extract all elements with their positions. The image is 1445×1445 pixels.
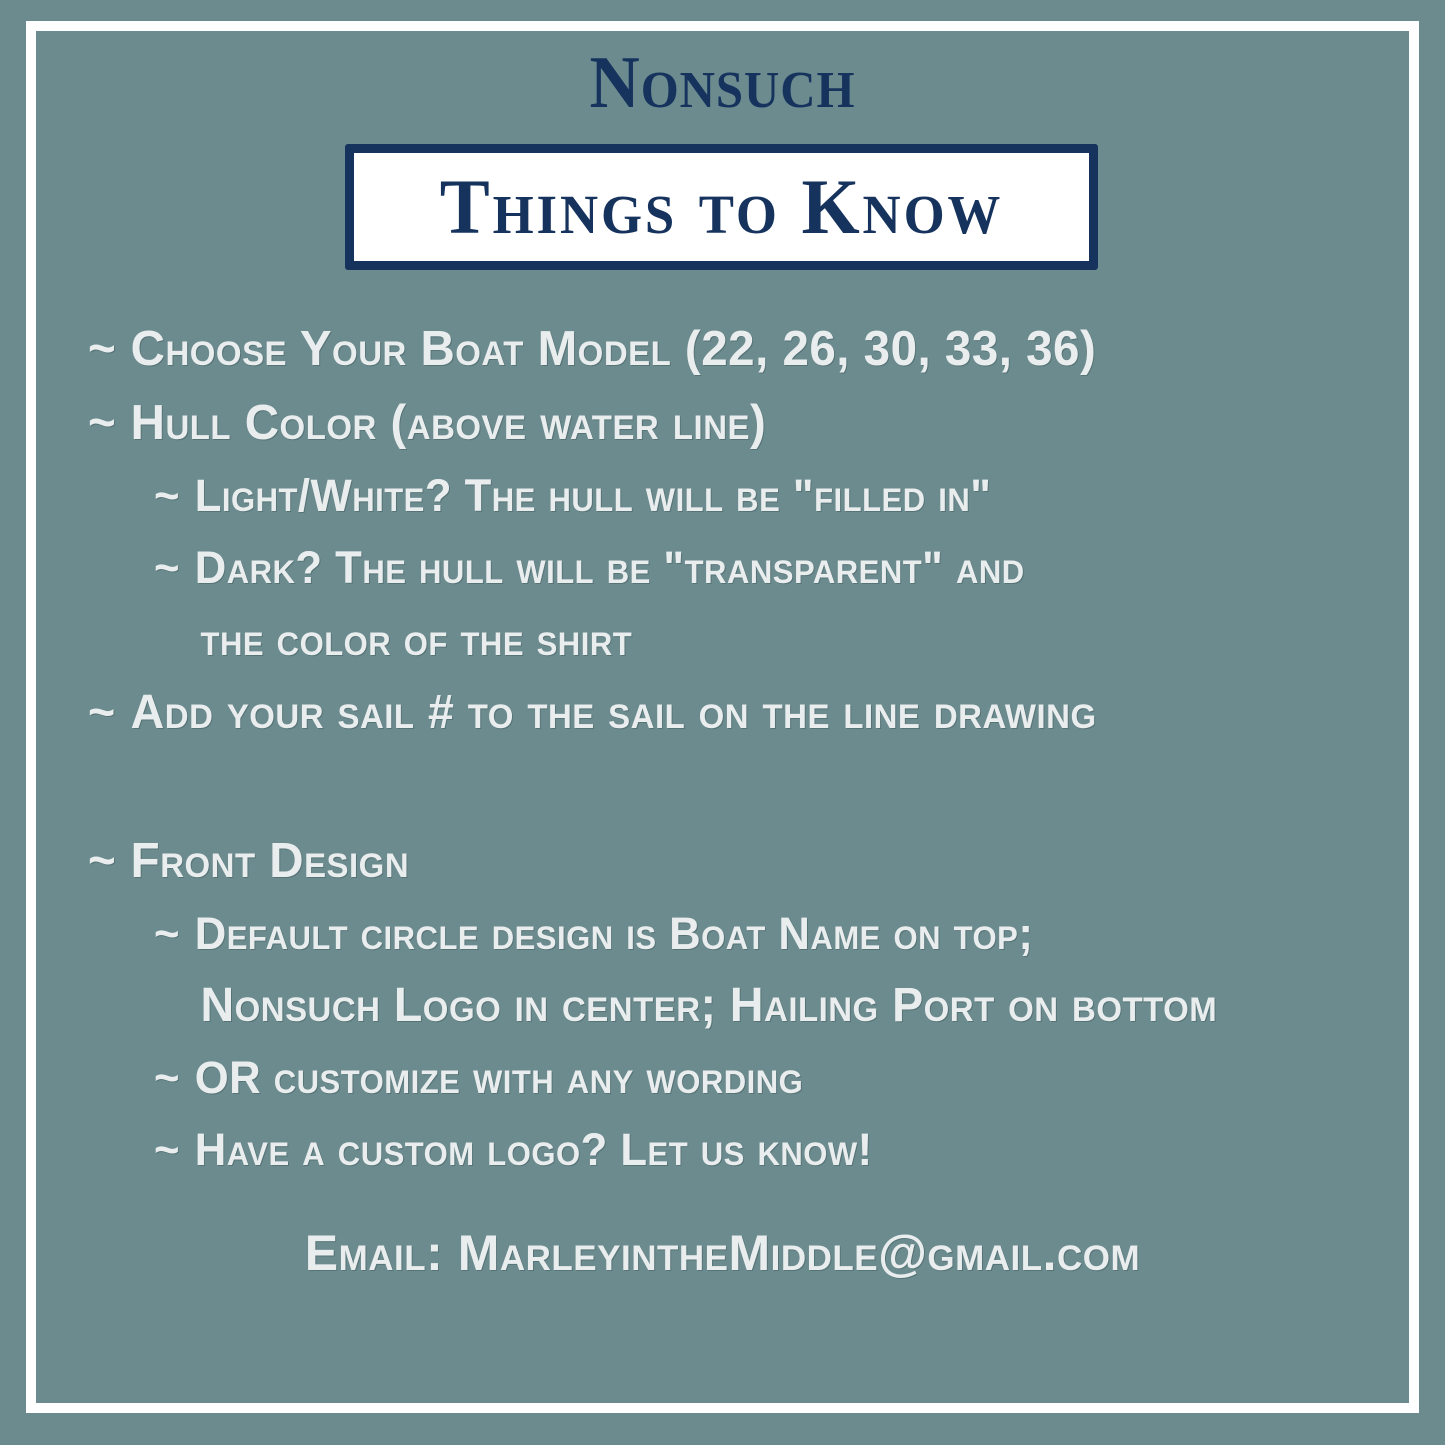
list-item-label: Front Design: [131, 834, 409, 888]
list-item-label: Hull Color (above water line): [131, 396, 767, 450]
list-item: ~Add your sail # to the sail on the line…: [88, 676, 1349, 750]
list-item-label: Light/White? The hull will be "filled in…: [195, 470, 992, 521]
list-item: Nonsuch Logo in center; Hailing Port on …: [88, 970, 1349, 1042]
things-to-know-list: ~Choose Your Boat Model (22, 26, 30, 33,…: [88, 312, 1388, 1186]
list-item-label: Dark? The hull will be "transparent" and: [195, 542, 1025, 593]
list-spacer: [88, 750, 1388, 824]
bullet-tilde-icon: ~: [154, 1114, 195, 1186]
contact-email: Email: MarleyintheMiddle@gmail.com: [0, 1222, 1445, 1284]
bullet-tilde-icon: ~: [154, 532, 195, 604]
poster-canvas: Nonsuch Things to Know ~Choose Your Boat…: [0, 0, 1445, 1445]
section-title-text: Things to Know: [440, 168, 1003, 246]
list-item-label: Have a custom logo? Let us know!: [195, 1124, 873, 1175]
list-item-label: Default circle design is Boat Name on to…: [195, 908, 1034, 959]
list-item: ~Front Design: [88, 824, 1349, 898]
brand-title: Nonsuch: [43, 0, 1401, 118]
bullet-tilde-icon: ~: [154, 460, 195, 532]
list-item: ~OR customize with any wording: [88, 1042, 1349, 1114]
list-item: ~Default circle design is Boat Name on t…: [88, 898, 1349, 970]
bullet-tilde-icon: ~: [88, 676, 131, 750]
list-item: ~Choose Your Boat Model (22, 26, 30, 33,…: [88, 312, 1349, 386]
bullet-tilde-icon: ~: [88, 386, 131, 460]
poster-header: Nonsuch: [0, 0, 1445, 118]
list-item-label: the color of the shirt: [201, 614, 633, 665]
list-item-label: Nonsuch Logo in center; Hailing Port on …: [201, 979, 1218, 1032]
bullet-tilde-icon: ~: [154, 1042, 195, 1114]
section-title-box: Things to Know: [345, 144, 1098, 270]
list-item-label: Choose Your Boat Model (22, 26, 30, 33, …: [131, 322, 1097, 376]
bullet-tilde-icon: ~: [88, 312, 131, 386]
list-item: ~Have a custom logo? Let us know!: [88, 1114, 1349, 1186]
list-item: ~Hull Color (above water line): [88, 386, 1349, 460]
bullet-tilde-icon: ~: [154, 898, 195, 970]
list-item-label: Add your sail # to the sail on the line …: [131, 686, 1097, 739]
list-item: the color of the shirt: [88, 604, 1349, 676]
list-item: ~Light/White? The hull will be "filled i…: [88, 460, 1349, 532]
list-item: ~Dark? The hull will be "transparent" an…: [88, 532, 1349, 604]
bullet-tilde-icon: ~: [88, 824, 131, 898]
list-item-label: OR customize with any wording: [195, 1052, 804, 1103]
